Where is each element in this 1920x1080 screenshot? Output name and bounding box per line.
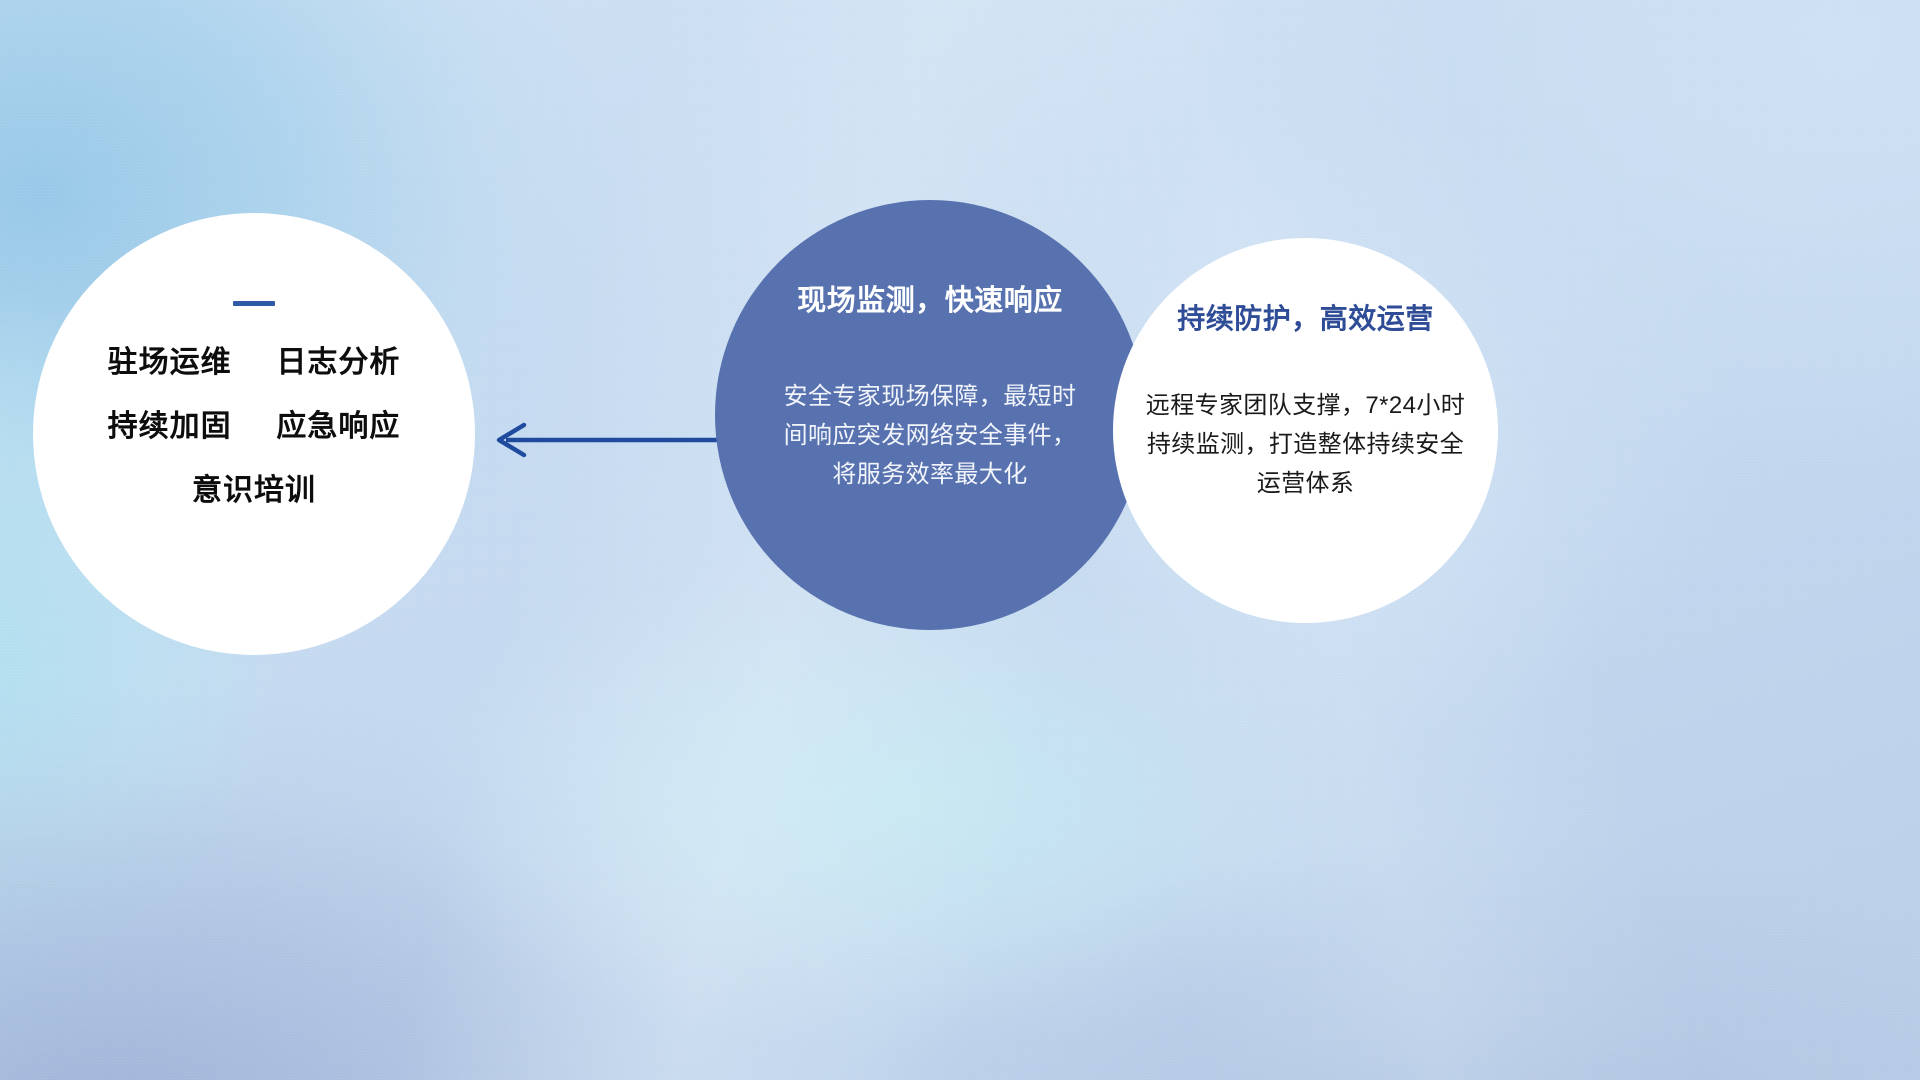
keyword-row-3: 意识培训 [192,476,316,506]
continuous-circle-body: 远程专家团队支撑，7*24小时持续监测，打造整体持续安全运营体系 [1141,387,1471,504]
title-divider [233,301,275,306]
onsite-circle-body: 安全专家现场保障，最短时间响应突发网络安全事件，将服务效率最大化 [780,378,1080,495]
slide-canvas: 驻场运维 日志分析 持续加固 应急响应 意识培训 现场监测，快速响应 安全专家现… [0,0,1920,1080]
flow-arrow-left-icon [480,412,720,468]
keyword-awareness-training: 意识培训 [192,474,316,507]
continuous-protection-circle[interactable]: 持续防护，高效运营 远程专家团队支撑，7*24小时持续监测，打造整体持续安全运营… [1113,238,1498,623]
capabilities-circle[interactable]: 驻场运维 日志分析 持续加固 应急响应 意识培训 [33,213,475,655]
keyword-row-2: 持续加固 应急响应 [108,412,401,442]
onsite-circle-title: 现场监测，快速响应 [797,286,1063,318]
keyword-log-analysis: 日志分析 [276,346,400,379]
keyword-emergency-response: 应急响应 [276,410,400,443]
keyword-onsite-ops: 驻场运维 [108,346,232,379]
onsite-monitoring-circle[interactable]: 现场监测，快速响应 安全专家现场保障，最短时间响应突发网络安全事件，将服务效率最… [715,200,1145,630]
keyword-continuous-hardening: 持续加固 [108,410,232,443]
keyword-row-1: 驻场运维 日志分析 [108,348,401,378]
continuous-circle-title: 持续防护，高效运营 [1177,304,1434,335]
